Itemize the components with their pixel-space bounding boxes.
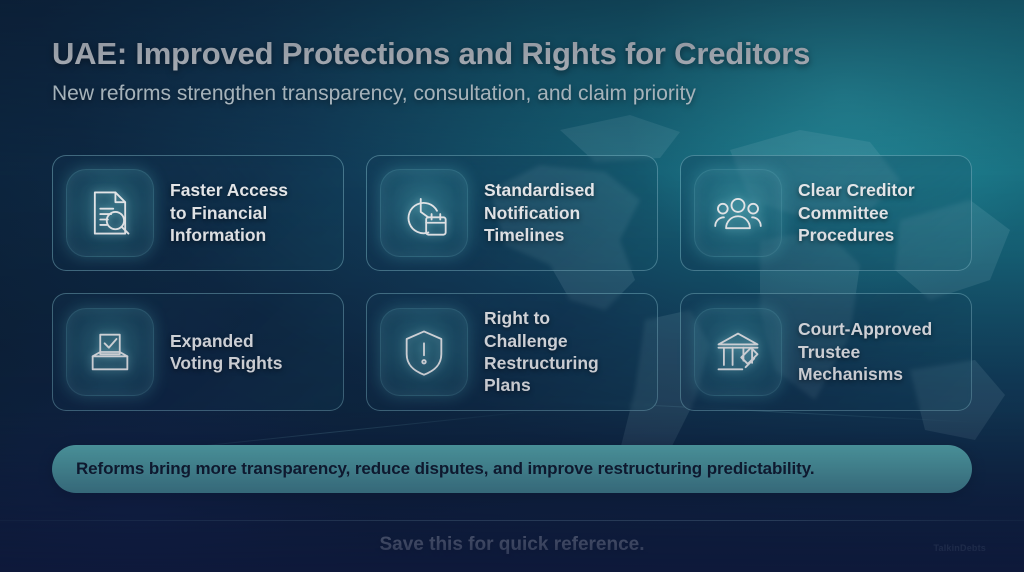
people-group-icon [694,169,782,257]
clock-calendar-icon [380,169,468,257]
page-title: UAE: Improved Protections and Rights for… [52,36,982,72]
ballot-box-check-icon [66,308,154,396]
brand-watermark: TalkinDebts [933,543,986,553]
feature-card-label: Clear Creditor Committee Procedures [798,179,915,246]
feature-card-grid: Faster Access to Financial Information S… [52,155,972,411]
feature-card-voting-rights[interactable]: Expanded Voting Rights [52,293,344,411]
feature-card-trustee-mechanisms[interactable]: Court-Approved Trustee Mechanisms [680,293,972,411]
courthouse-gavel-icon [694,308,782,396]
summary-banner: Reforms bring more transparency, reduce … [52,445,972,493]
feature-card-faster-access[interactable]: Faster Access to Financial Information [52,155,344,271]
feature-card-label: Right to Challenge Restructuring Plans [484,307,599,397]
feature-card-label: Expanded Voting Rights [170,330,282,375]
shield-alert-icon [380,308,468,396]
infographic-canvas: UAE: Improved Protections and Rights for… [0,0,1024,572]
summary-banner-text: Reforms bring more transparency, reduce … [76,459,814,479]
feature-card-challenge-plans[interactable]: Right to Challenge Restructuring Plans [366,293,658,411]
feature-card-notification-timelines[interactable]: Standardised Notification Timelines [366,155,658,271]
page-subtitle: New reforms strengthen transparency, con… [52,82,982,106]
footer-cta-text: Save this for quick reference. [0,534,1024,556]
feature-card-creditor-committee[interactable]: Clear Creditor Committee Procedures [680,155,972,271]
feature-card-label: Court-Approved Trustee Mechanisms [798,318,932,385]
header: UAE: Improved Protections and Rights for… [52,36,982,106]
feature-card-label: Faster Access to Financial Information [170,179,288,246]
feature-card-label: Standardised Notification Timelines [484,179,595,246]
document-magnifier-icon [66,169,154,257]
footer-divider [0,520,1024,521]
